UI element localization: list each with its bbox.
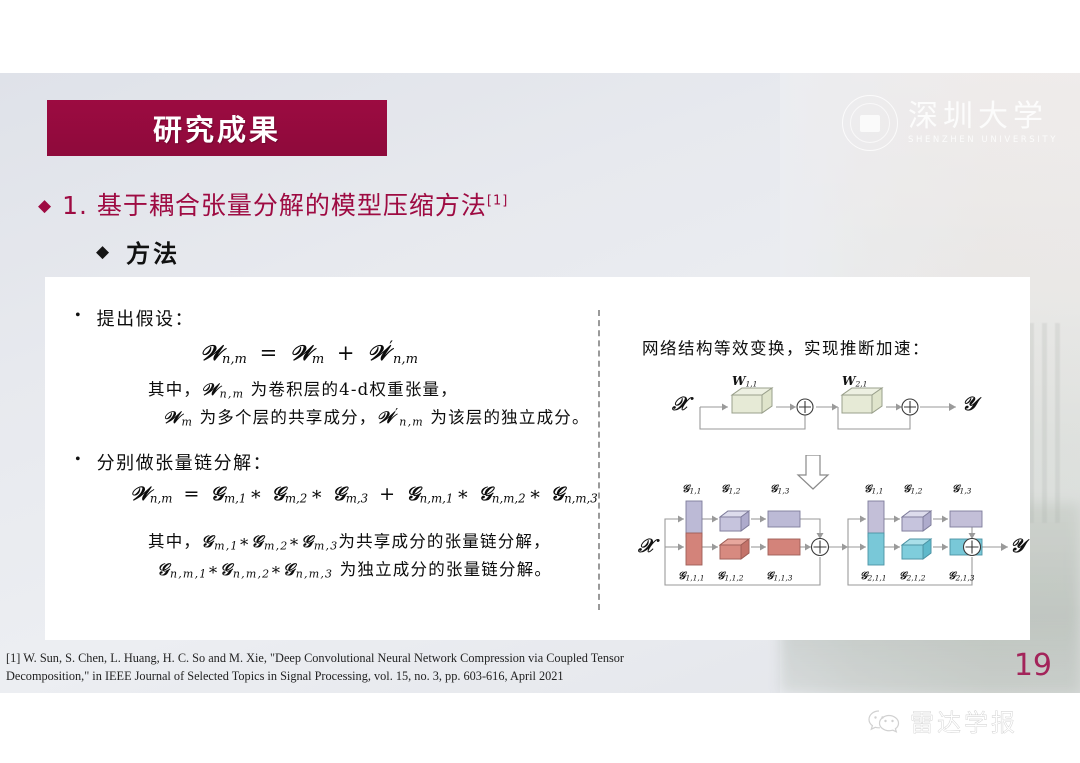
diagram-title: 网络结构等效变换，实现推断加速：: [642, 335, 930, 359]
wechat-watermark-label: 雷达学报: [910, 703, 1018, 738]
university-name-cn: 深圳大学: [908, 101, 1058, 133]
bullet-item-hypothesis-label: 提出假设：: [97, 305, 195, 331]
slide-root: 研究成果 深圳大学 SHENZHEN UNIVERSITY ◆ 1. 基于耦合张…: [0, 0, 1080, 763]
page-number: 19: [1014, 648, 1052, 683]
bullet-item-decomposition: • 分别做张量链分解：: [75, 449, 272, 475]
footnote-reference: [1] W. Sun, S. Chen, L. Huang, H. C. So …: [6, 650, 706, 686]
bullet-item-hypothesis: • 提出假设：: [75, 305, 194, 331]
add-operator-bottom-2: [964, 539, 981, 556]
heading-level1-text: 1. 基于耦合张量分解的模型压缩方法[1]: [62, 186, 508, 222]
bullet-item-decomposition-label: 分别做张量链分解：: [97, 449, 273, 475]
add-operator-top-2: [902, 399, 918, 415]
add-operator-top-1: [797, 399, 813, 415]
section-title-text: 研究成果: [153, 107, 281, 149]
explain-decomposition-line2: 𝒢n,m,1∗𝒢n,m,2∗𝒢n,m,3 为独立成分的张量链分解。 𝒢n,m,1…: [157, 556, 552, 580]
right-column-diagram: 网络结构等效变换，实现推断加速：: [620, 285, 1030, 635]
university-name-en: SHENZHEN UNIVERSITY: [908, 136, 1058, 145]
g2-top-3-block: [950, 511, 982, 527]
heading-level1: ◆ 1. 基于耦合张量分解的模型压缩方法[1]: [38, 186, 508, 222]
explain-decomposition-line1: 其中，𝒢m,1∗𝒢m,2∗𝒢m,3为共享成分的张量链分解， 其中，𝒢m,1 * …: [148, 528, 551, 552]
heading-level1-label: 1. 基于耦合张量分解的模型压缩方法: [62, 191, 487, 220]
diamond-bullet-icon-2: ◆: [96, 243, 109, 260]
label-g2-1-3: 𝒢2,1,3𝒢2,1,3: [948, 570, 975, 583]
wechat-watermark: 雷达学报: [867, 703, 1018, 738]
vertical-dashed-divider: [598, 310, 600, 610]
g2-1-2-block: [902, 539, 931, 559]
top-output-y: 𝒴: [962, 393, 977, 415]
g1-1-block: [686, 501, 702, 537]
bottom-network-diagram: [620, 485, 1030, 615]
university-name: 深圳大学 SHENZHEN UNIVERSITY: [908, 101, 1058, 144]
label-g2-top-1: 𝒢1,1𝒢1,1: [864, 483, 883, 496]
diamond-bullet-icon: ◆: [38, 197, 51, 214]
formula-hypothesis: 𝒲n,m = 𝒲m + 𝒲′n,m 𝒲n,m = 𝒲m + 𝒲′n,m: [200, 337, 418, 367]
section-title-plaque: 研究成果: [47, 100, 387, 156]
bottom-output-y: 𝒴: [1010, 535, 1025, 557]
heading-level2: ◆ 方法: [96, 234, 180, 269]
label-g1-1-3: 𝒢1,1,3𝒢1,1,3: [766, 570, 793, 583]
label-g1-1: 𝒢1,1𝒢1,1: [682, 483, 701, 496]
g1-3-block: [768, 511, 800, 527]
top-input-x: 𝒳: [672, 393, 688, 415]
label-g2-top-3: 𝒢1,3𝒢1,3: [952, 483, 971, 496]
university-seal-icon: [842, 95, 898, 151]
g1-1-3-block: [768, 539, 800, 555]
formula-decomposition: 𝒲n,m = 𝒢m,1∗ 𝒢m,2∗ 𝒢m,3 + 𝒢n,m,1∗ 𝒢n,m,2…: [130, 483, 598, 506]
label-g2-1-1: 𝒢2,1,1𝒢2,1,1: [860, 570, 887, 583]
top-block-label-2: W2,1W2,1: [842, 374, 867, 389]
university-logo: 深圳大学 SHENZHEN UNIVERSITY: [842, 95, 1058, 151]
add-operator-bottom-1: [812, 539, 829, 556]
label-g1-2: 𝒢1,2𝒢1,2: [721, 483, 740, 496]
seal-core-icon: [860, 115, 880, 132]
bullet-dot-icon: •: [75, 307, 81, 325]
g2-top-1-block: [868, 501, 884, 537]
g1-1-2-block: [720, 539, 749, 559]
weight-block-2: [842, 388, 882, 413]
g1-2-block: [720, 511, 749, 531]
label-g2-top-2: 𝒢1,2𝒢1,2: [903, 483, 922, 496]
g1-1-1-block: [686, 533, 702, 565]
explain-hypothesis-line1: 其中，𝒲n,m 为卷积层的4-d权重张量， 其中，𝒲n,m 为卷积层的4-d权重…: [148, 376, 458, 400]
bottom-input-x: 𝒳: [638, 535, 654, 557]
top-letterbox-band: [0, 0, 1080, 73]
left-column: • 提出假设： 𝒲n,m = 𝒲m + 𝒲′n,m 𝒲n,m = 𝒲m + 𝒲′…: [45, 277, 598, 640]
label-g1-3: 𝒢1,3𝒢1,3: [770, 483, 789, 496]
heading-level1-reference: [1]: [487, 194, 508, 209]
bullet-dot-icon-2: •: [75, 451, 81, 469]
label-g1-1-1: 𝒢1,1,1𝒢1,1,1: [678, 570, 705, 583]
wechat-icon: [867, 708, 901, 734]
explain-hypothesis-line2: 𝒲m 为多个层的共享成分，𝒲′n,m 为该层的独立成分。 𝒲m 为多个层的共享成…: [163, 404, 590, 428]
heading-level2-text: 方法: [126, 234, 180, 269]
g2-top-2-block: [902, 511, 931, 531]
label-g1-1-2: 𝒢1,1,2𝒢1,1,2: [717, 570, 744, 583]
g2-1-1-block: [868, 533, 884, 565]
label-g2-1-2: 𝒢2,1,2𝒢2,1,2: [899, 570, 926, 583]
weight-block-1: [732, 388, 772, 413]
top-block-label-1: W1,1W1,1: [732, 374, 757, 389]
